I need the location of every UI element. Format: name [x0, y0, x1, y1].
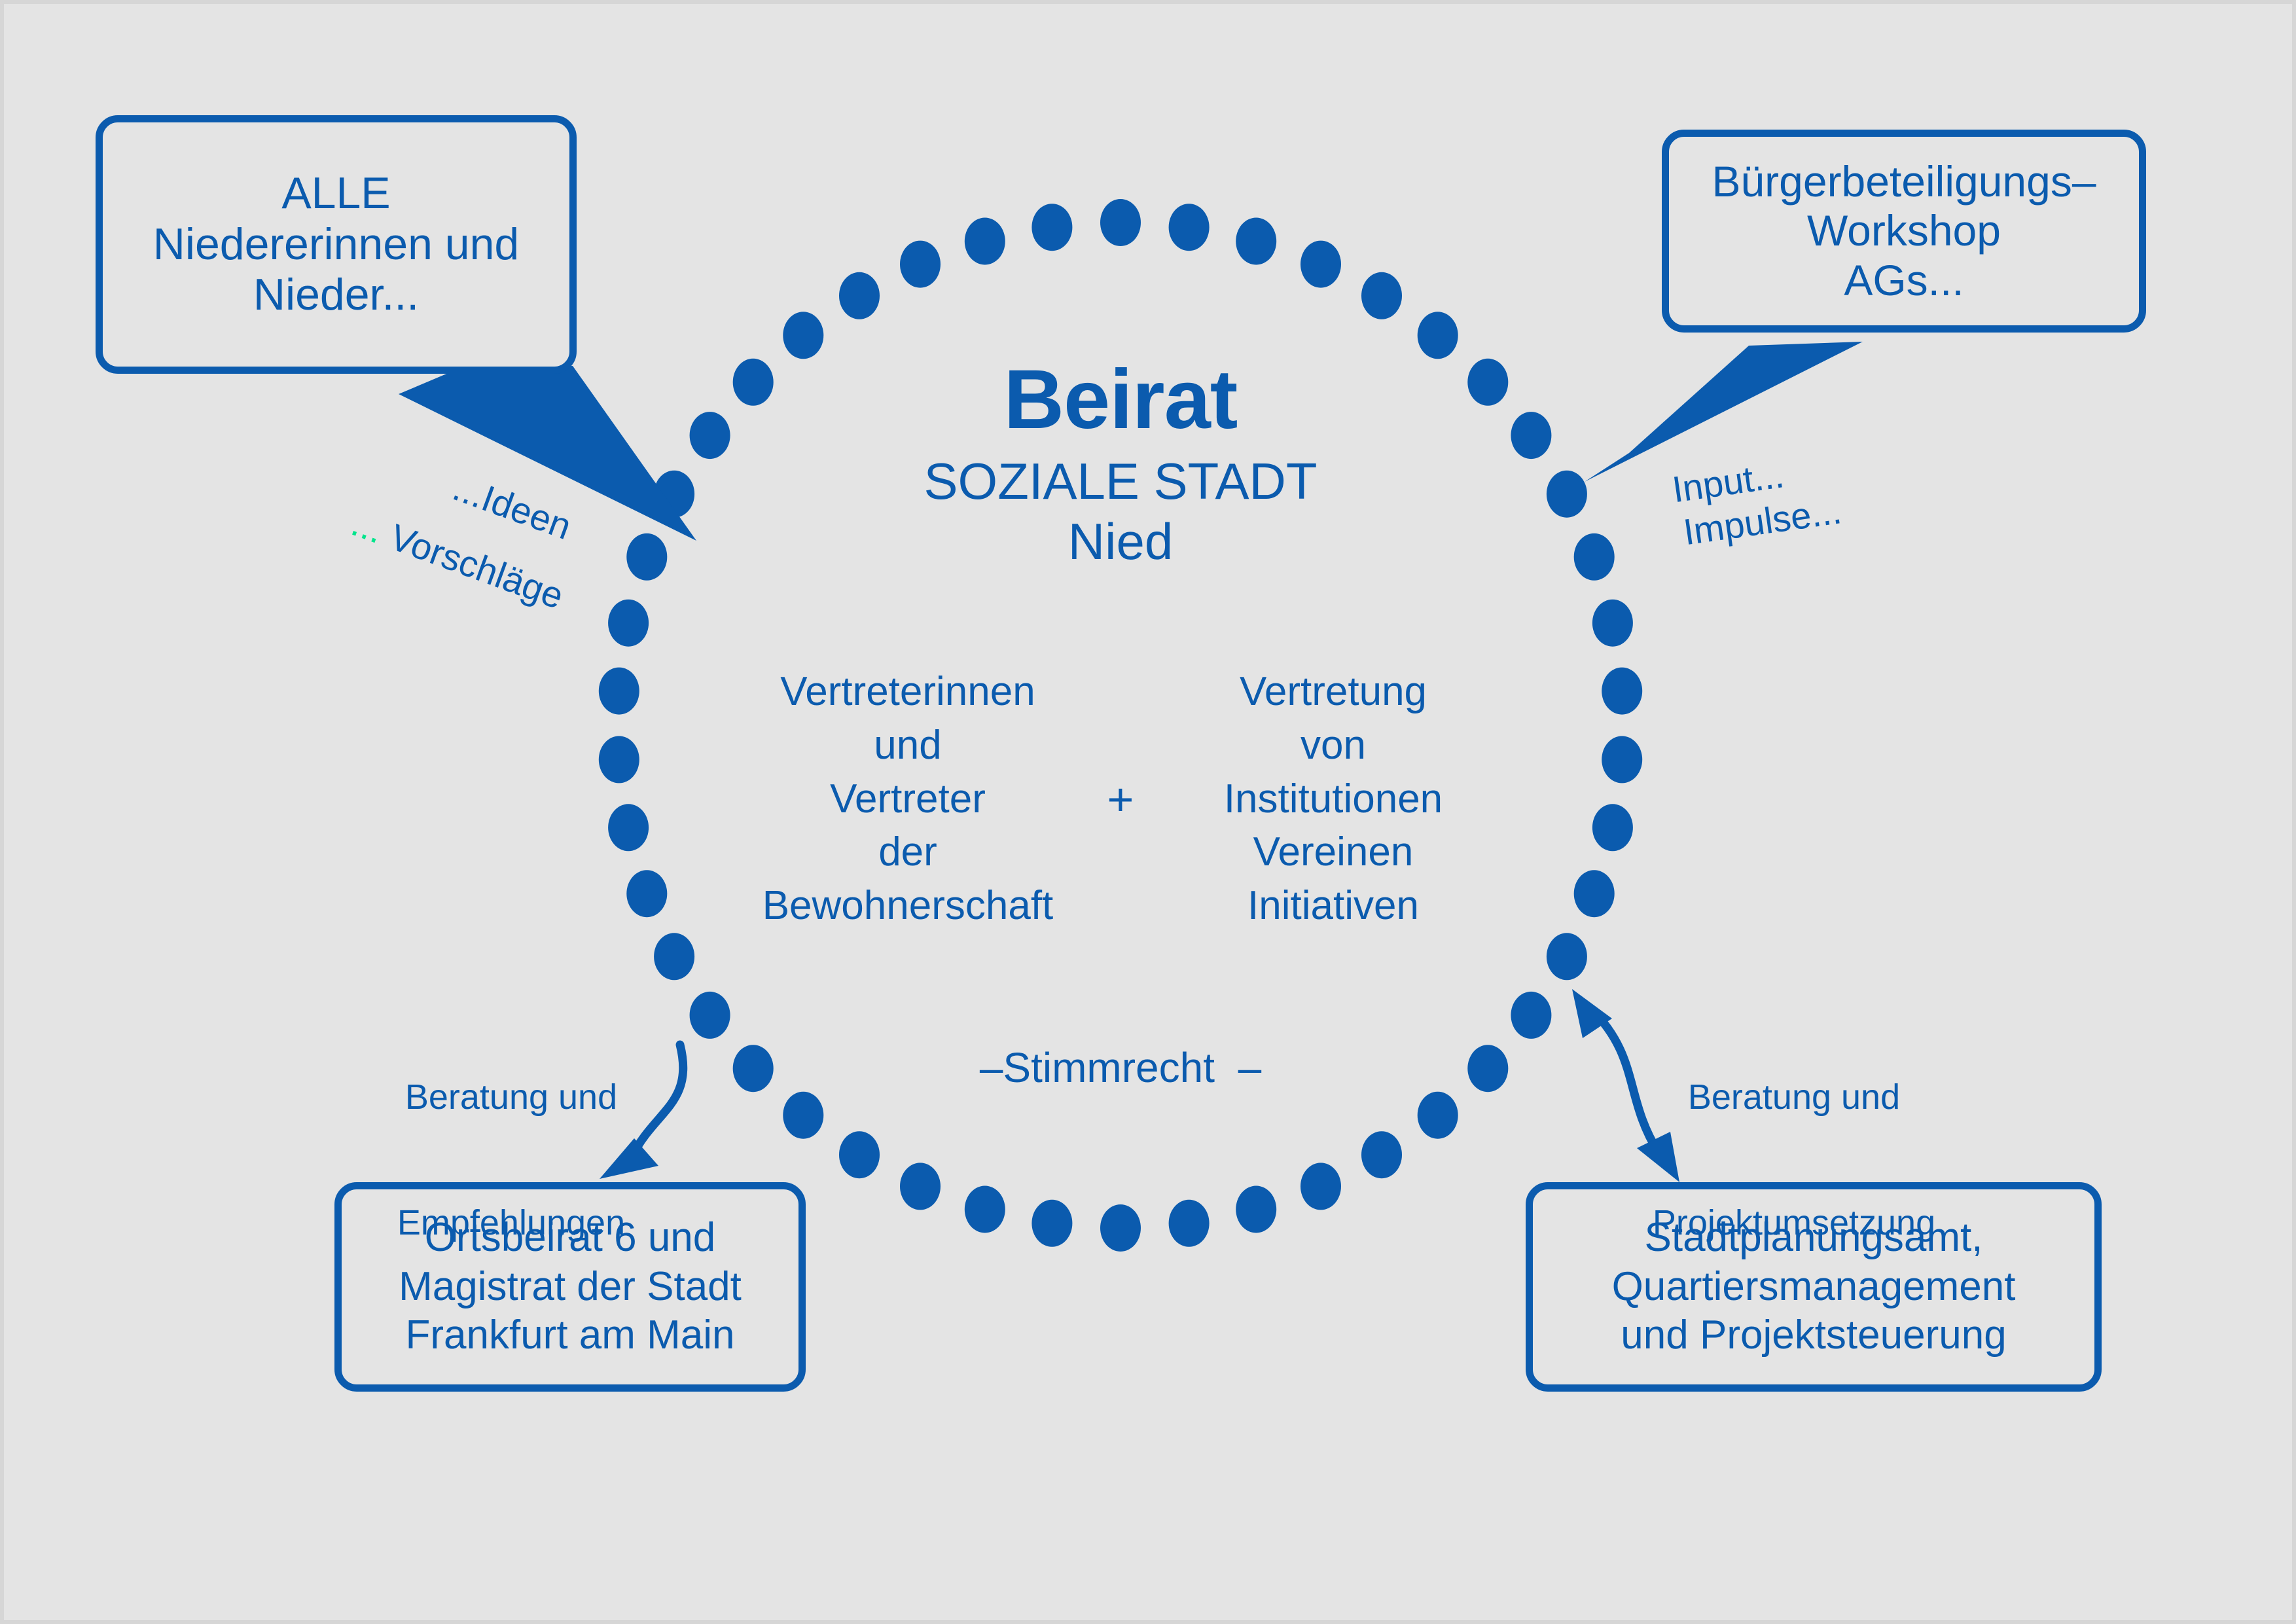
voting-rights-label: –Stimmrecht –: [980, 1043, 1261, 1092]
circle-dot: [900, 1163, 941, 1210]
circle-dot: [839, 272, 880, 319]
bubble-right-line-1: Bürgerbeteiligungs–: [1712, 157, 2096, 206]
annotation-beratung-empfehlungen: Beratung und Empfehlungen: [380, 994, 642, 1327]
circle-dot: [1574, 533, 1615, 581]
circle-dot: [965, 1186, 1005, 1233]
column-residents: Vertreterinnen und Vertreter der Bewohne…: [734, 665, 1081, 933]
column-residents-line-2: und: [734, 719, 1081, 772]
annotation-beratung-projektumsetzung-line-2: Projektumsetzung: [1643, 1202, 1945, 1244]
circle-dot: [626, 870, 667, 917]
circle-dot: [1169, 1200, 1210, 1247]
circle-dot: [690, 992, 730, 1039]
circle-dot: [1236, 1186, 1276, 1233]
column-institutions-line-3: Institutionen: [1160, 772, 1507, 826]
circle-dot: [599, 736, 639, 783]
circle-dot: [1602, 668, 1642, 715]
speech-bubble-residents[interactable]: ALLE Niedererinnen und Nieder...: [96, 115, 577, 374]
circle-dot: [1511, 412, 1551, 459]
circle-dot: [965, 218, 1005, 265]
circle-dot: [1100, 1204, 1141, 1252]
circle-dot: [1592, 804, 1633, 851]
circle-dot: [1592, 600, 1633, 647]
circle-dot: [1511, 992, 1551, 1039]
circle-dot: [1100, 199, 1141, 246]
circle-dot: [1361, 272, 1402, 319]
annotation-beratung-projektumsetzung-line-1: Beratung und: [1643, 1077, 1945, 1119]
circle-dot: [839, 1131, 880, 1178]
circle-dot: [1547, 471, 1587, 518]
subtitle-programme: SOZIALE STADT: [728, 451, 1513, 511]
circle-dot: [654, 933, 694, 980]
circle-dot: [1300, 241, 1341, 288]
column-residents-line-3: Vertreter: [734, 772, 1081, 826]
annotation-beratung-empfehlungen-line-1: Beratung und: [380, 1077, 642, 1119]
circle-dot: [1602, 736, 1642, 783]
circle-dot: [626, 533, 667, 581]
subtitle-district: Nied: [728, 511, 1513, 571]
circle-dot: [900, 241, 941, 288]
membership-columns: Vertreterinnen und Vertreter der Bewohne…: [711, 665, 1530, 933]
column-institutions-line-4: Vereinen: [1160, 825, 1507, 879]
plus-icon: +: [1081, 776, 1160, 822]
circle-dot: [1418, 312, 1458, 359]
column-residents-line-1: Vertreterinnen: [734, 665, 1081, 719]
circle-dot: [608, 600, 649, 647]
circle-dot: [783, 312, 823, 359]
bubble-left-line-1: ALLE: [281, 168, 390, 219]
circle-dot: [1361, 1131, 1402, 1178]
column-residents-line-5: Bewohnerschaft: [734, 879, 1081, 933]
circle-dot: [733, 1045, 774, 1092]
diagram-canvas: ALLE Niedererinnen und Nieder... Bürgerb…: [0, 0, 2296, 1624]
bubble-right-line-3: AGs...: [1844, 256, 1964, 305]
column-institutions-line-2: von: [1160, 719, 1507, 772]
circle-dot: [1031, 1200, 1072, 1247]
bubble-right-line-2: Workshop: [1807, 206, 2001, 255]
circle-center-heading: Beirat SOZIALE STADT Nied: [728, 357, 1513, 571]
circle-dot: [1300, 1163, 1341, 1210]
circle-dot: [1418, 1092, 1458, 1139]
circle-dot: [690, 412, 730, 459]
circle-dot: [599, 668, 639, 715]
annotation-beratung-projektumsetzung: Beratung und Projektumsetzung: [1643, 994, 1945, 1327]
page-title: Beirat: [728, 357, 1513, 443]
circle-dot: [1031, 204, 1072, 251]
bubble-left-line-3: Nieder...: [253, 270, 419, 321]
annotation-beratung-empfehlungen-line-2: Empfehlungen: [380, 1202, 642, 1244]
bubble-left-line-2: Niedererinnen und: [153, 219, 520, 270]
circle-dot: [1236, 218, 1276, 265]
circle-dot: [1169, 204, 1210, 251]
circle-dot: [783, 1092, 823, 1139]
circle-dot: [608, 804, 649, 851]
column-institutions: Vertretung von Institutionen Vereinen In…: [1160, 665, 1507, 933]
column-institutions-line-5: Initiativen: [1160, 879, 1507, 933]
column-institutions-line-1: Vertretung: [1160, 665, 1507, 719]
speech-bubble-participation[interactable]: Bürgerbeteiligungs– Workshop AGs...: [1662, 130, 2146, 333]
circle-dot: [1467, 1045, 1508, 1092]
column-residents-line-4: der: [734, 825, 1081, 879]
circle-dot: [1574, 870, 1615, 917]
circle-dot: [1547, 933, 1587, 980]
